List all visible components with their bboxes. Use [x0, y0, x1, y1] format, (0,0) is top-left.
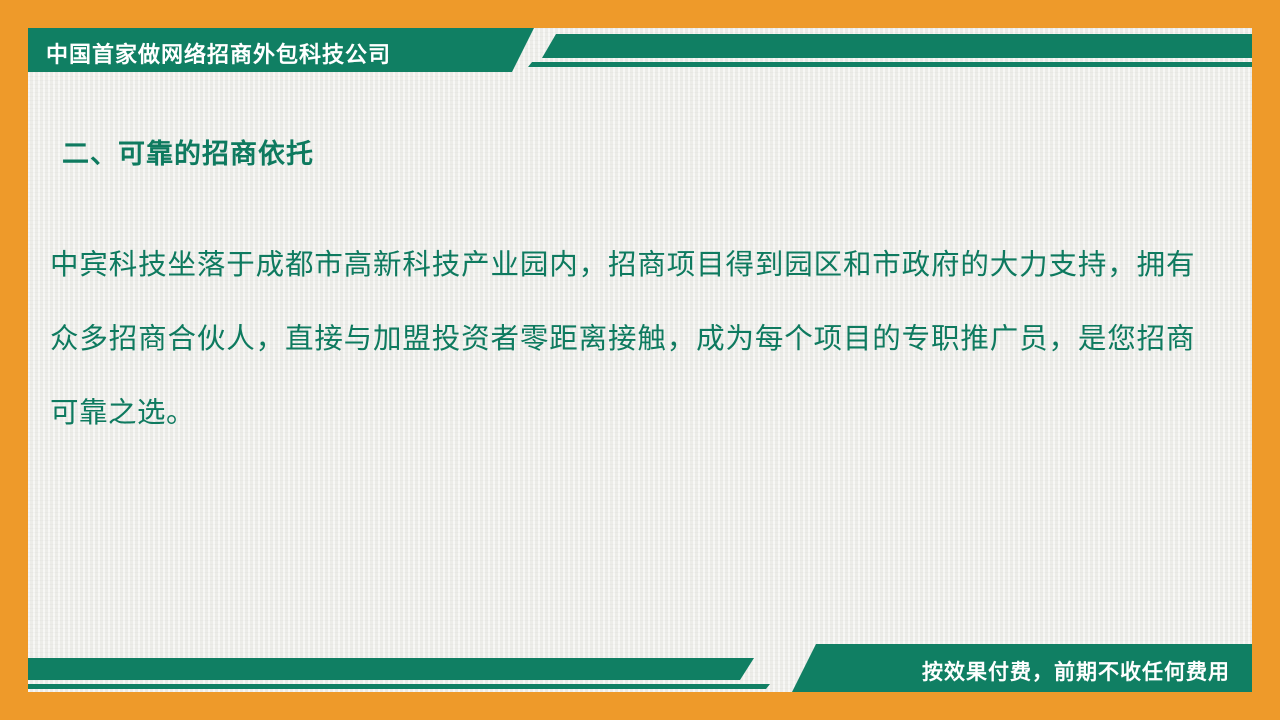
header-band: 中国首家做网络招商外包科技公司 [28, 28, 1252, 72]
footer-stripe-upper [28, 658, 754, 680]
footer-stripe-lower [28, 684, 770, 689]
slide: 中国首家做网络招商外包科技公司 二、可靠的招商依托 中宾科技坐落于成都市高新科技… [0, 0, 1280, 720]
footer-tagline: 按效果付费，前期不收任何费用 [922, 656, 1230, 686]
section-title: 二、可靠的招商依托 [62, 132, 314, 171]
header-stripe-upper [542, 34, 1252, 58]
header-stripe-lower [528, 62, 1252, 67]
footer-band: 按效果付费，前期不收任何费用 [28, 636, 1252, 692]
body-paragraph: 中宾科技坐落于成都市高新科技产业园内，招商项目得到园区和市政府的大力支持，拥有众… [50, 228, 1195, 450]
header-title: 中国首家做网络招商外包科技公司 [46, 37, 391, 69]
